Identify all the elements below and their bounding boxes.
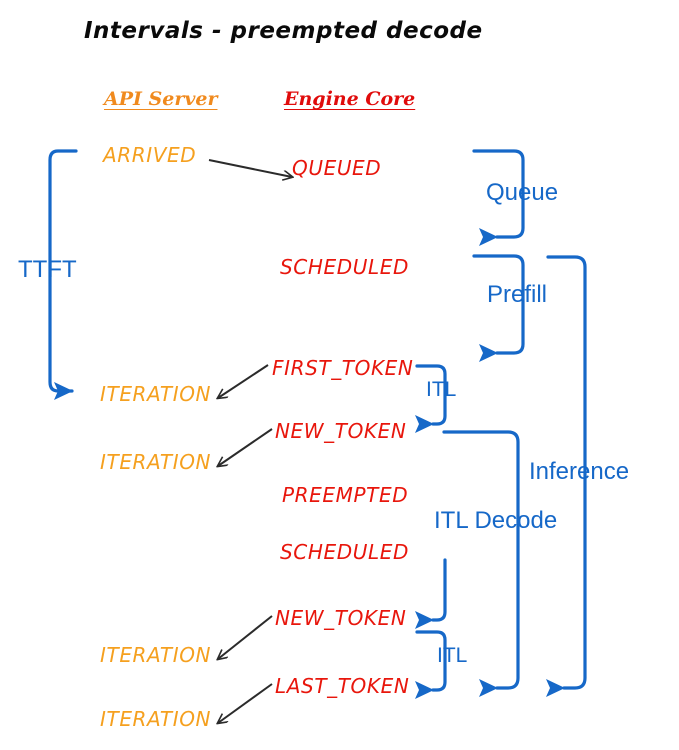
interval-label-itl-2: ITL <box>437 645 467 666</box>
event-arrow-last-token-to-iteration-4 <box>218 684 272 723</box>
event-arrow-first-token-to-iteration <box>218 365 268 398</box>
event-last-token: LAST_TOKEN <box>275 676 409 696</box>
event-iteration-3: ITERATION <box>100 645 211 665</box>
interval-label-itl-decode: ITL Decode <box>434 509 557 533</box>
diagram-canvas: Intervals - preempted decode API Server … <box>0 0 679 750</box>
interval-label-itl-1: ITL <box>426 379 456 400</box>
event-scheduled-2: SCHEDULED <box>280 542 409 562</box>
event-queued: QUEUED <box>292 158 381 178</box>
page-title: Intervals - preempted decode <box>84 20 483 43</box>
event-arrived: ARRIVED <box>103 145 196 165</box>
event-iteration-4: ITERATION <box>100 709 211 729</box>
event-scheduled-1: SCHEDULED <box>280 257 409 277</box>
interval-bracket-itl-2-top-arrow <box>433 560 445 620</box>
event-arrow-arrived-to-queued <box>209 160 292 177</box>
column-header-api-server: API Server <box>104 90 218 109</box>
event-first-token: FIRST_TOKEN <box>272 358 413 378</box>
column-header-engine-core: Engine Core <box>284 90 415 109</box>
interval-label-prefill: Prefill <box>487 283 547 307</box>
event-new-token-2: NEW_TOKEN <box>275 608 406 628</box>
interval-label-inference: Inference <box>529 460 629 484</box>
interval-label-ttft: TTFT <box>18 258 77 282</box>
event-iteration-1: ITERATION <box>100 384 211 404</box>
event-arrow-new-token-to-iteration-2 <box>218 429 272 466</box>
event-preempted: PREEMPTED <box>282 485 408 505</box>
event-new-token-1: NEW_TOKEN <box>275 421 406 441</box>
interval-label-queue: Queue <box>486 181 558 205</box>
event-iteration-2: ITERATION <box>100 452 211 472</box>
event-arrow-new-token-to-iteration-3 <box>218 616 272 659</box>
